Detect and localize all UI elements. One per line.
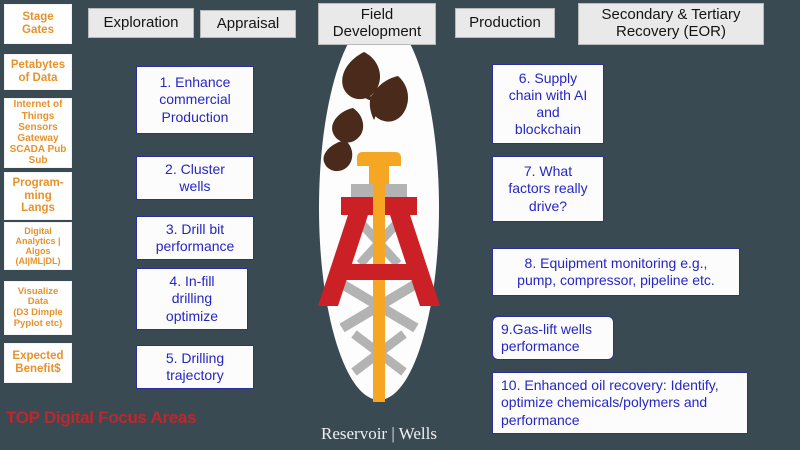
stage-header-exploration[interactable]: Exploration: [88, 8, 194, 38]
sidebar-item-internet-of-things[interactable]: Internet of Things Sensors Gateway SCADA…: [4, 98, 72, 168]
focus-areas-title: TOP Digital Focus Areas: [6, 408, 196, 428]
stage-header-label: Secondary & Tertiary Recovery (EOR): [602, 7, 741, 41]
oil-rig-svg: [312, 16, 446, 420]
sidebar-item-label: Digital Analytics | Algos (AI|ML|DL): [15, 226, 60, 266]
sidebar-item-label: Visualize Data (D3 Dimple Pyplot etc): [13, 287, 63, 330]
focus-box-label: 3. Drill bit performance: [156, 221, 235, 255]
focus-box-1[interactable]: 1. Enhance commercial Production: [136, 66, 254, 134]
focus-box-7[interactable]: 7. What factors really drive?: [492, 156, 604, 222]
focus-box-label: 4. In-fill drilling optimize: [166, 273, 218, 324]
sidebar-item-label: Program- ming Langs: [12, 177, 63, 216]
stage-header-label: Exploration: [103, 15, 178, 32]
sidebar-item-stage-gates[interactable]: Stage Gates: [4, 4, 72, 44]
focus-box-4[interactable]: 4. In-fill drilling optimize: [136, 268, 248, 330]
stage-header-field-development[interactable]: Field Development: [318, 3, 436, 45]
sidebar-item-expected-benefits[interactable]: Expected Benefit$: [4, 343, 72, 383]
focus-box-label: 9.Gas-lift wells performance: [501, 321, 592, 355]
focus-box-label: 1. Enhance commercial Production: [159, 74, 231, 125]
focus-box-5[interactable]: 5. Drilling trajectory: [136, 345, 254, 389]
stage-header-production[interactable]: Production: [455, 8, 555, 38]
focus-box-label: 7. What factors really drive?: [508, 163, 587, 214]
focus-box-label: 10. Enhanced oil recovery: Identify, opt…: [501, 377, 719, 428]
focus-box-10[interactable]: 10. Enhanced oil recovery: Identify, opt…: [492, 372, 748, 434]
slide-canvas: Stage Gates Petabytes of Data Internet o…: [0, 0, 800, 450]
rig-caption: Reservoir | Wells: [300, 424, 458, 444]
stage-header-label: Production: [469, 15, 541, 32]
stage-header-appraisal[interactable]: Appraisal: [200, 10, 296, 38]
sidebar-item-digital-analytics[interactable]: Digital Analytics | Algos (AI|ML|DL): [4, 222, 72, 270]
focus-box-label: 8. Equipment monitoring e.g., pump, comp…: [517, 255, 715, 289]
focus-box-9[interactable]: 9.Gas-lift wells performance: [492, 316, 614, 360]
focus-box-2[interactable]: 2. Cluster wells: [136, 156, 254, 200]
focus-box-8[interactable]: 8. Equipment monitoring e.g., pump, comp…: [492, 248, 740, 296]
sidebar-item-visualize-data[interactable]: Visualize Data (D3 Dimple Pyplot etc): [4, 281, 72, 335]
stage-header-label: Appraisal: [217, 16, 280, 33]
sidebar-item-label: Stage Gates: [22, 11, 54, 37]
stage-header-secondary-tertiary-recovery[interactable]: Secondary & Tertiary Recovery (EOR): [578, 3, 764, 45]
sidebar-item-label: Expected Benefit$: [12, 350, 63, 376]
sidebar-item-programming-langs[interactable]: Program- ming Langs: [4, 172, 72, 220]
rig-drill-pipe: [373, 166, 385, 402]
sidebar-item-petabytes-of-data[interactable]: Petabytes of Data: [4, 54, 72, 90]
stage-header-label: Field Development: [333, 7, 421, 41]
focus-box-3[interactable]: 3. Drill bit performance: [136, 216, 254, 260]
focus-box-label: 6. Supply chain with AI and blockchain: [509, 70, 588, 138]
sidebar-item-label: Petabytes of Data: [11, 59, 65, 85]
focus-box-label: 5. Drilling trajectory: [166, 350, 224, 384]
focus-box-label: 2. Cluster wells: [165, 161, 225, 195]
sidebar-item-label: Internet of Things Sensors Gateway SCADA…: [10, 99, 67, 166]
focus-box-6[interactable]: 6. Supply chain with AI and blockchain: [492, 64, 604, 144]
rig-a-crossbar: [337, 264, 421, 280]
oil-rig-derrick-icon: [312, 16, 446, 420]
